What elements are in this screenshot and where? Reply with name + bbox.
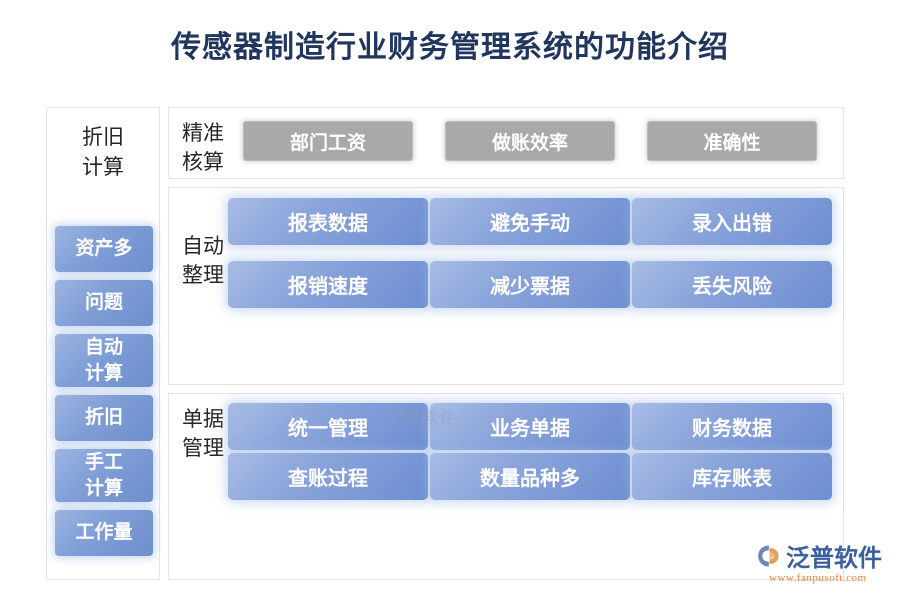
sidebar-item-3[interactable]: 折旧 (55, 395, 153, 441)
section-2-cell-0-2: 财务数据 (631, 403, 833, 450)
section-panel-precision-accounting: 精准核算 部门工资 做账效率 准确性 (168, 107, 844, 179)
section-2-row-1: 查账过程 数量品种多 库存账表 (227, 453, 833, 500)
feature-button-entry-error[interactable]: 录入出错 (632, 198, 832, 245)
feature-button-business-document[interactable]: 业务单据 (430, 403, 630, 450)
section-0-label: 精准核算 (175, 119, 231, 177)
section-1-cell-0-0: 报表数据 (227, 198, 429, 245)
section-1-cell-0-2: 录入出错 (631, 198, 833, 245)
section-2-cell-1-0: 查账过程 (227, 453, 429, 500)
sidebar-heading-line-1: 折旧计算 (47, 122, 159, 182)
section-0-button-grid: 部门工资 做账效率 准确性 (227, 121, 833, 161)
feature-button-loss-risk[interactable]: 丢失风险 (632, 261, 832, 308)
page-title: 传感器制造行业财务管理系统的功能介绍 (0, 22, 900, 66)
feature-button-reimbursement-speed[interactable]: 报销速度 (228, 261, 428, 308)
sidebar-item-1[interactable]: 问题 (55, 280, 153, 326)
section-0-cell-0-2: 准确性 (631, 121, 833, 161)
brand-logo-top: 泛普软件 (755, 538, 882, 573)
feature-button-many-varieties[interactable]: 数量品种多 (430, 453, 630, 500)
sidebar-item-5[interactable]: 工作量 (55, 510, 153, 556)
brand-logo-text: 泛普软件 (786, 538, 882, 573)
section-2-button-grid: 统一管理 业务单据 财务数据 查账过程 数量品种多 库存账表 (227, 403, 833, 500)
feature-button-avoid-manual[interactable]: 避免手动 (430, 198, 630, 245)
section-1-cell-0-1: 避免手动 (429, 198, 631, 245)
section-2-cell-1-1: 数量品种多 (429, 453, 631, 500)
fanpu-logo-icon (755, 543, 781, 569)
feature-button-reduce-receipts[interactable]: 减少票据 (430, 261, 630, 308)
feature-button-audit-process[interactable]: 查账过程 (228, 453, 428, 500)
sidebar-item-2[interactable]: 自动计算 (55, 334, 153, 387)
section-2-cell-1-2: 库存账表 (631, 453, 833, 500)
section-1-cell-1-0: 报销速度 (227, 261, 429, 308)
section-panel-auto-organize: 自动整理 报表数据 避免手动 录入出错 报销速度 减少票据 丢失风险 (168, 187, 844, 385)
sidebar-item-1-label: 问题 (55, 290, 153, 316)
section-0-row-0: 部门工资 做账效率 准确性 (227, 121, 833, 161)
feature-button-financial-data[interactable]: 财务数据 (632, 403, 832, 450)
sidebar-item-4[interactable]: 手工计算 (55, 449, 153, 502)
sidebar-item-3-label: 折旧 (55, 405, 153, 431)
section-2-row-0: 统一管理 业务单据 财务数据 (227, 403, 833, 450)
section-1-cell-1-1: 减少票据 (429, 261, 631, 308)
sidebar-heading: 折旧计算 (47, 122, 159, 182)
section-panel-document-management: 单据管理 统一管理 业务单据 财务数据 查账过程 数量品种多 库存账表 (168, 393, 844, 580)
feature-button-inventory-ledger[interactable]: 库存账表 (632, 453, 832, 500)
section-0-cell-0-1: 做账效率 (429, 121, 631, 161)
sidebar-item-4-label: 手工计算 (55, 450, 153, 502)
sidebar-panel: 折旧计算 资产多 问题 自动计算 折旧 手工计算 工作量 (46, 107, 160, 580)
sidebar-item-0[interactable]: 资产多 (55, 226, 153, 272)
feature-button-report-data[interactable]: 报表数据 (228, 198, 428, 245)
sidebar-item-0-label: 资产多 (55, 236, 153, 262)
section-0-cell-0-0: 部门工资 (227, 121, 429, 161)
feature-button-unified-management[interactable]: 统一管理 (228, 403, 428, 450)
section-1-cell-1-2: 丢失风险 (631, 261, 833, 308)
sidebar-item-2-label: 自动计算 (55, 335, 153, 387)
feature-button-bookkeeping-efficiency[interactable]: 做账效率 (445, 121, 615, 161)
brand-logo-url: www.fanpusoft.com (769, 572, 867, 584)
section-1-row-0: 报表数据 避免手动 录入出错 (227, 198, 833, 245)
section-2-cell-0-0: 统一管理 (227, 403, 429, 450)
section-1-button-grid: 报表数据 避免手动 录入出错 报销速度 减少票据 丢失风险 (227, 198, 833, 308)
sidebar-item-5-label: 工作量 (55, 520, 153, 546)
section-1-row-1: 报销速度 减少票据 丢失风险 (227, 261, 833, 308)
feature-button-department-salary[interactable]: 部门工资 (243, 121, 413, 161)
section-2-label: 单据管理 (175, 405, 231, 463)
sidebar-button-list: 资产多 问题 自动计算 折旧 手工计算 工作量 (55, 226, 153, 564)
brand-logo: 泛普软件 www.fanpusoft.com (755, 538, 882, 584)
section-1-label: 自动整理 (175, 232, 231, 290)
section-2-cell-0-1: 业务单据 (429, 403, 631, 450)
feature-button-accuracy[interactable]: 准确性 (647, 121, 817, 161)
